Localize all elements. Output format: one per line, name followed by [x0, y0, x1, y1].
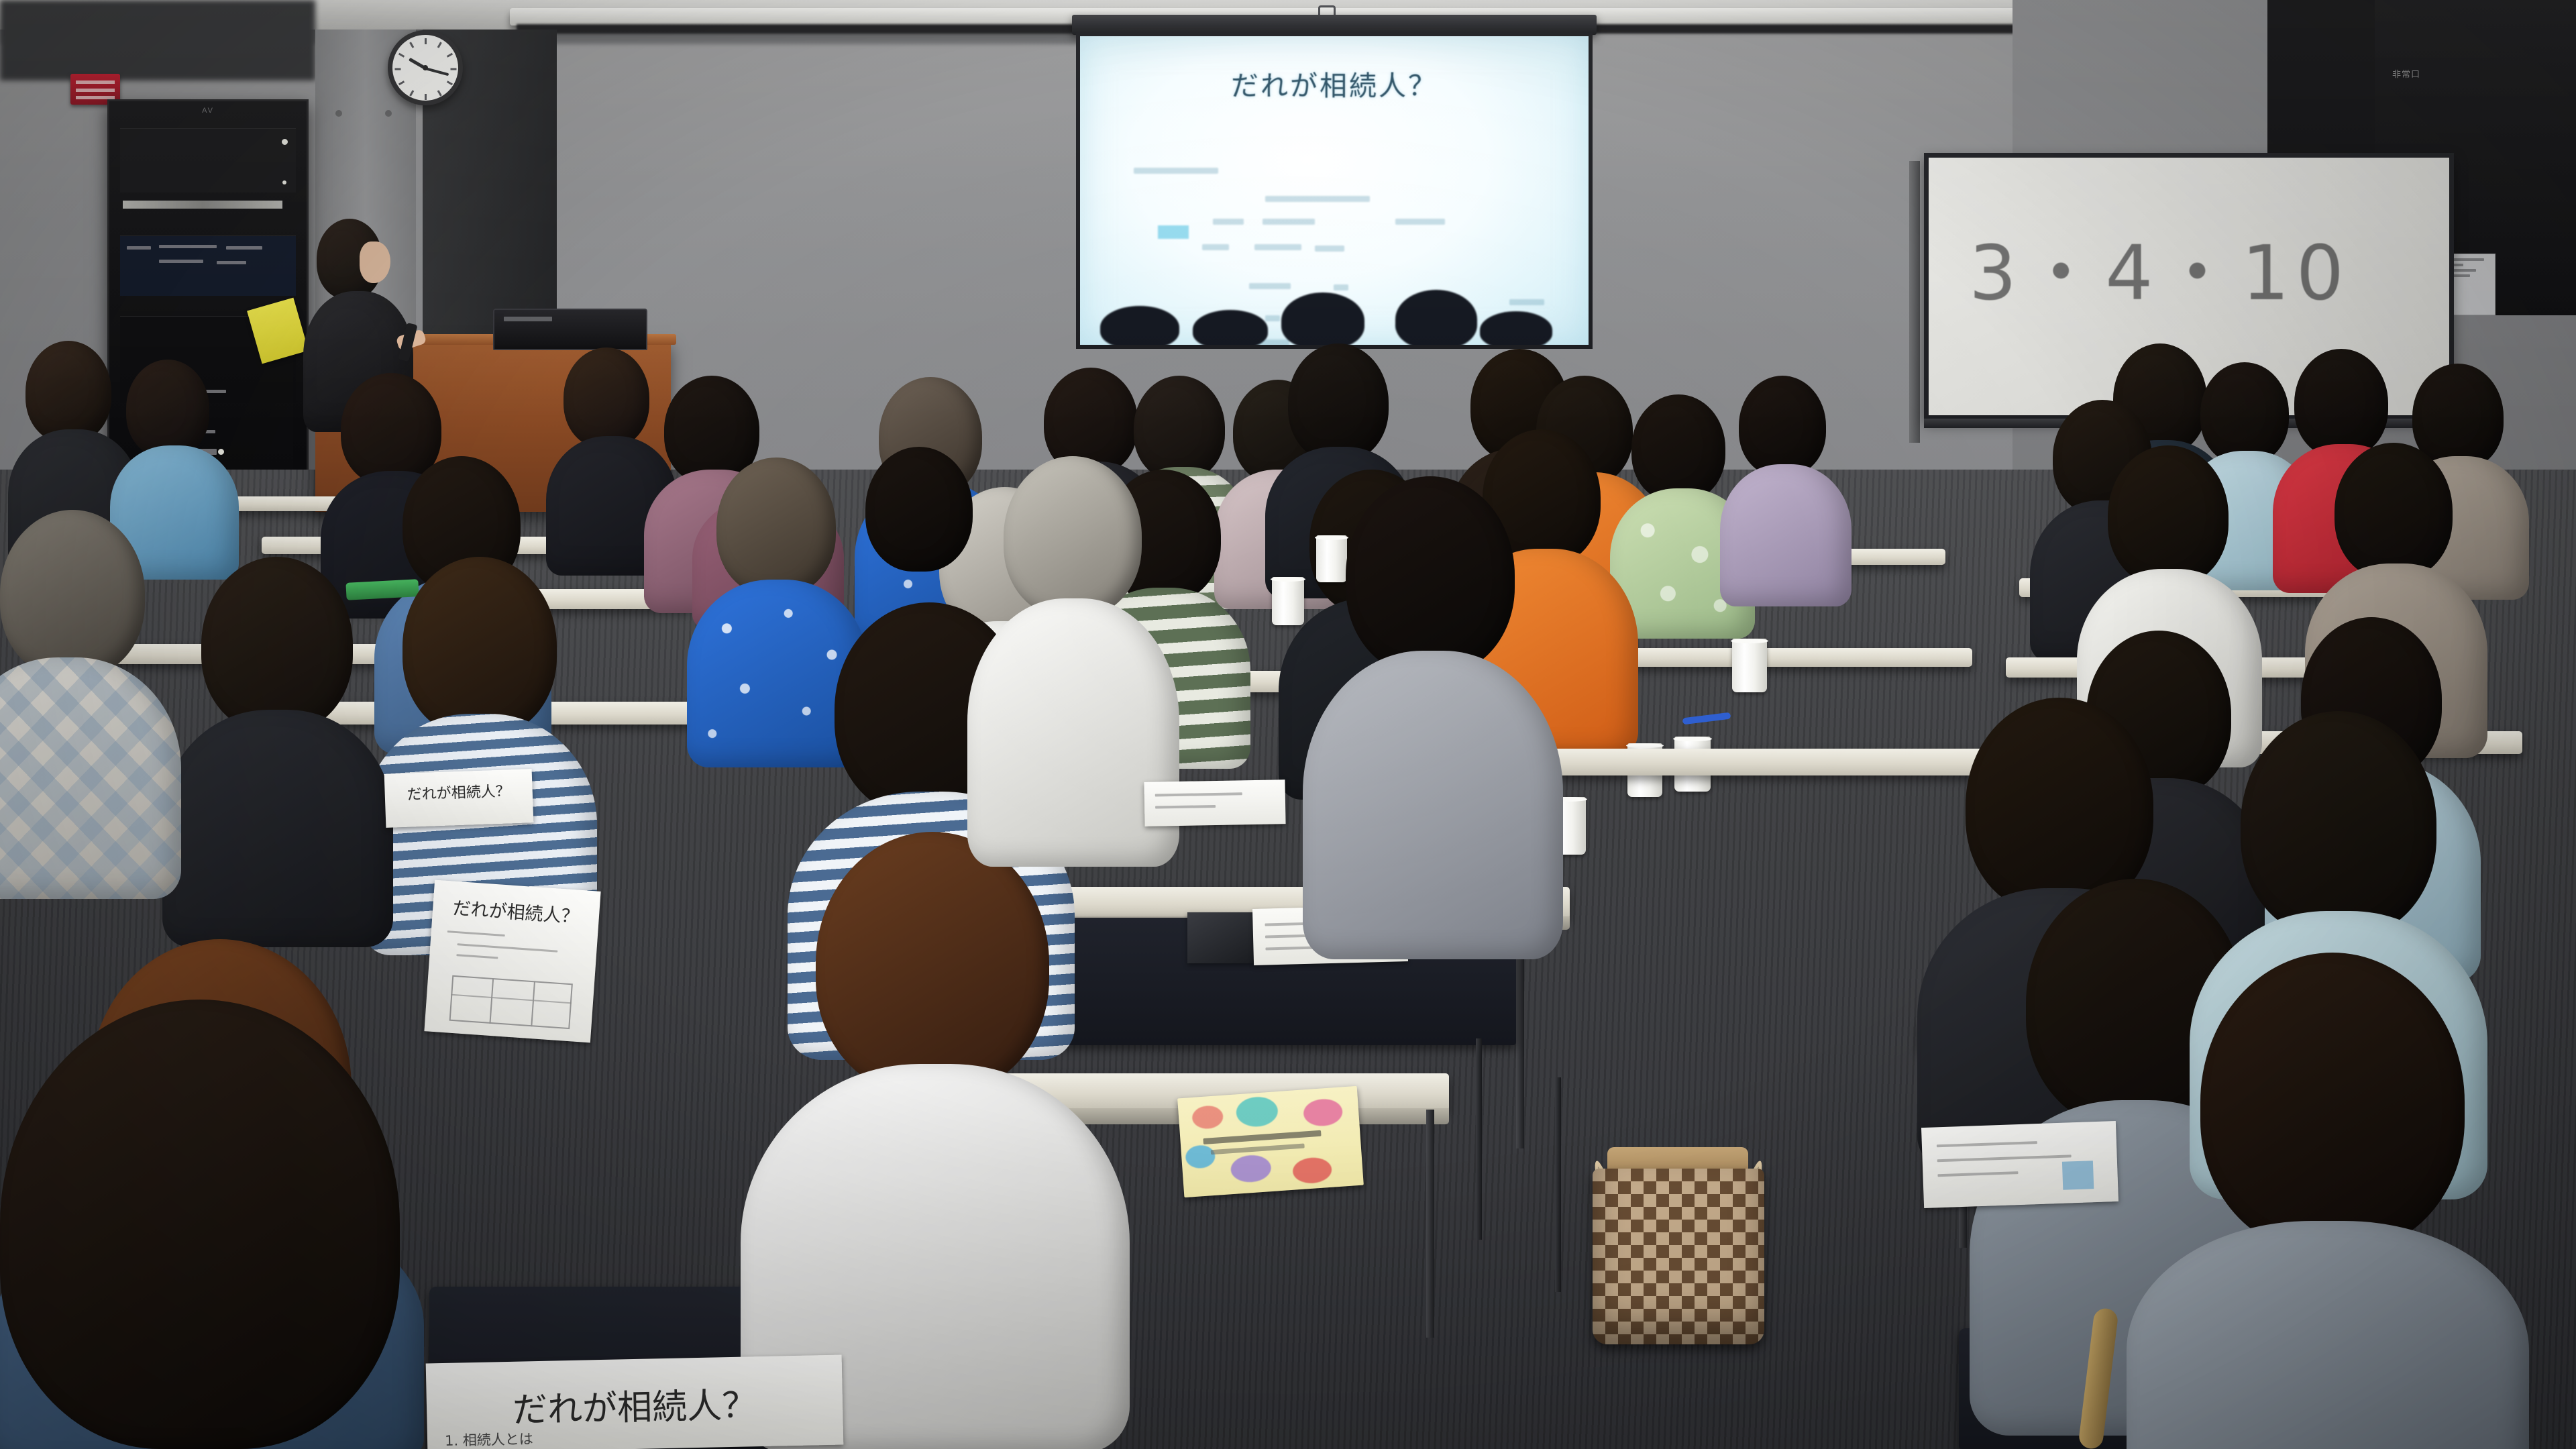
projection-screen: だれが相続人？ [1080, 36, 1589, 345]
handout-title: だれが相続人？ [384, 778, 533, 805]
whiteboard-text: 3・4・10 [1969, 213, 2351, 321]
projection-screen-frame: だれが相続人？ [1076, 32, 1593, 349]
whiteboard-mount-arm [1909, 161, 1920, 443]
handbag [1578, 1122, 1779, 1344]
handout: だれが相続人？ [424, 880, 600, 1043]
handout: だれが相続人？ 1. 相続人とは [426, 1355, 844, 1449]
desk-paper [1921, 1121, 2118, 1208]
colorful-leaflet [1177, 1086, 1364, 1197]
paper-cup [1272, 577, 1304, 625]
desk [1550, 749, 2006, 775]
wall-clock [388, 30, 463, 105]
exit-sign-label: 非常口 [2392, 67, 2420, 80]
paper-cup [1732, 639, 1767, 692]
presenter-laptop[interactable] [493, 309, 647, 350]
handout-title: だれが相続人？ [432, 892, 600, 930]
handout-subtitle: 1. 相続人とは [445, 1428, 533, 1449]
lecture-room-photo: 非常口 AV [0, 0, 2576, 1449]
handout: だれが相続人？ [384, 769, 534, 828]
handout-title: だれが相続人？ [426, 1375, 843, 1434]
ceiling-recess-left [0, 0, 315, 80]
desk-paper [1144, 780, 1285, 826]
clock-minute-hand [425, 67, 449, 76]
photo-card [1187, 912, 1254, 963]
paper-cup [1316, 535, 1347, 582]
slide-title: だれが相続人？ [1080, 63, 1589, 103]
slide-highlight [1158, 225, 1189, 239]
